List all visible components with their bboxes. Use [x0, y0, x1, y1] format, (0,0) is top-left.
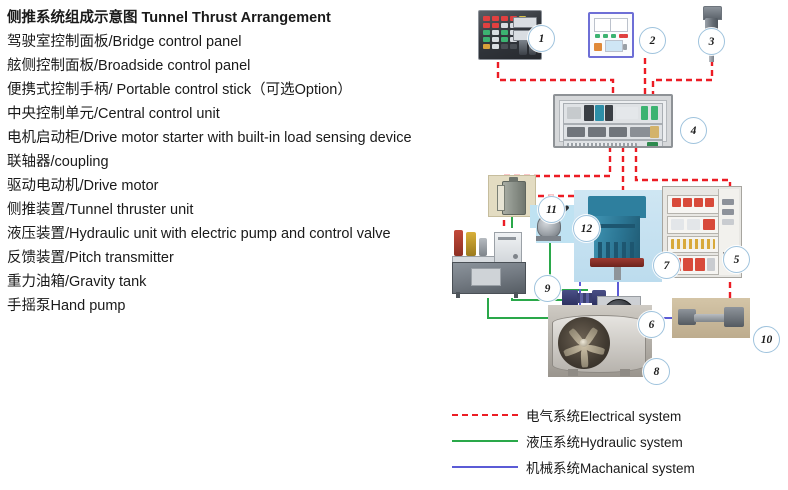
starter-door-device-1 [722, 199, 734, 205]
starter-contactor-4 [705, 198, 714, 207]
system-legend: 电气系统Electrical system 液压系统Hydraulic syst… [452, 402, 782, 480]
callout-9: 9 [534, 275, 561, 302]
system-diagram: 1 2 3 [440, 0, 788, 400]
parts-list: 侧推系统组成示意图 Tunnel Thrust Arrangement 驾驶室控… [7, 6, 457, 318]
legend-swatch-hydraulic [452, 440, 518, 442]
ccu-relay-2 [588, 127, 606, 137]
ccu-shelf-bottom [563, 140, 663, 148]
central-control-unit[interactable] [553, 94, 673, 148]
part-item-2: 舷侧控制面板/Broadside control panel [7, 54, 457, 78]
hydraulic-leg-right [514, 292, 518, 298]
ccu-module-6 [641, 106, 648, 120]
pitch-transmitter[interactable] [672, 298, 750, 338]
callout-3: 3 [698, 28, 725, 55]
hydraulic-control-box [494, 232, 522, 264]
ccu-module-7 [651, 106, 658, 120]
starter-relay-2 [687, 219, 700, 230]
ccu-relay-3 [609, 127, 627, 137]
hydraulic-unit[interactable] [448, 228, 536, 298]
callout-8: 8 [643, 358, 670, 385]
motor-terminal-box [588, 196, 646, 218]
hydraulic-box-label [498, 237, 516, 240]
starter-breaker-3 [695, 258, 705, 271]
callout-12: 12 [573, 215, 600, 242]
gravity-tank[interactable] [488, 175, 536, 217]
part-item-5: 电机启动柜/Drive motor starter with built-in … [7, 126, 457, 150]
ccu-interior [559, 100, 667, 142]
part-item-9: 液压装置/Hydraulic unit with electric pump a… [7, 222, 457, 246]
starter-contactor-2 [683, 198, 692, 207]
starter-relay-3 [703, 219, 715, 230]
part-item-6: 联轴器/coupling [7, 150, 457, 174]
ccu-shelf-top [563, 103, 663, 124]
part-item-1: 驾驶室控制面板/Bridge control panel [7, 30, 457, 54]
ccu-terminal-block [647, 142, 658, 148]
hydraulic-filter-red [454, 230, 463, 256]
part-item-8: 侧推装置/Tunnel thruster unit [7, 198, 457, 222]
broadside-control-panel[interactable] [588, 12, 634, 58]
legend-row-electrical: 电气系统Electrical system [452, 402, 782, 428]
ccu-shelf-middle [563, 124, 663, 140]
broadside-led-5 [623, 34, 628, 38]
starter-relay-1 [671, 219, 684, 230]
starter-breaker-2 [683, 258, 693, 271]
ccu-transformer [650, 126, 659, 138]
hydraulic-reservoir [452, 262, 526, 294]
callout-5: 5 [723, 246, 750, 273]
part-item-7: 驱动电动机/Drive motor [7, 174, 457, 198]
starter-rail-1 [667, 195, 719, 214]
legend-swatch-mechanical [452, 466, 518, 468]
part-item-3: 便携式控制手柄/ Portable control stick（可选Option… [7, 78, 457, 102]
hydraulic-filter-yellow [466, 232, 476, 256]
broadside-display-bottom [605, 40, 623, 52]
starter-door-device-2 [722, 209, 734, 215]
callout-6: 6 [638, 311, 665, 338]
broadside-led-2 [603, 34, 608, 38]
part-item-4: 中央控制单元/Central control unit [7, 102, 457, 126]
callout-7: 7 [653, 252, 680, 279]
motor-flange [590, 258, 644, 267]
broadside-knob[interactable] [623, 44, 627, 50]
hydraulic-box-knob[interactable] [513, 254, 518, 259]
motor-shaft [614, 267, 621, 280]
starter-breaker-4 [707, 258, 715, 271]
pitch-transmitter-sensor [724, 307, 744, 327]
legend-label-hydraulic: 液压系统Hydraulic system [526, 431, 683, 451]
thruster-foot-right [620, 369, 630, 376]
legend-swatch-electrical [452, 414, 518, 416]
ccu-module-4 [605, 105, 613, 121]
starter-contactor-3 [694, 198, 703, 207]
starter-rail-2 [667, 216, 719, 234]
gravity-tank-cap [509, 177, 518, 182]
callout-10: 10 [753, 326, 780, 353]
starter-fuse-strip [671, 239, 715, 249]
gravity-tank-sight-glass [497, 185, 505, 211]
hydraulic-leg-left [456, 292, 460, 298]
broadside-led-3 [611, 34, 616, 38]
callout-1: 1 [528, 25, 555, 52]
bridge-panel-lever-left[interactable] [519, 40, 527, 55]
shaft-flange-left [562, 290, 578, 306]
shaft-bellows [577, 293, 593, 303]
tunnel-thruster-unit[interactable] [548, 305, 652, 377]
callout-11: 11 [538, 196, 565, 223]
broadside-display-right [610, 18, 628, 32]
ccu-module-5 [616, 107, 638, 119]
hand-pump-base [535, 236, 561, 241]
starter-door-device-3 [722, 219, 734, 225]
page-title: 侧推系统组成示意图 Tunnel Thrust Arrangement [7, 6, 457, 30]
part-item-10: 反馈装置/Pitch transmitter [7, 246, 457, 270]
broadside-led-1 [595, 34, 600, 38]
ccu-module-3 [595, 105, 604, 121]
callout-2: 2 [639, 27, 666, 54]
thruster-bore [558, 317, 610, 369]
ccu-module-2 [584, 105, 594, 121]
wire-stick-to-ccu [653, 60, 712, 96]
ccu-terminal-strip [567, 143, 637, 148]
broadside-button-alarm[interactable] [594, 43, 602, 51]
hydraulic-nameplate [471, 268, 501, 286]
ccu-module-1 [567, 107, 581, 119]
ccu-relay-1 [567, 127, 585, 137]
part-item-12: 手摇泵Hand pump [7, 294, 457, 318]
hydraulic-pump [479, 238, 487, 256]
gravity-tank-body [502, 181, 526, 215]
legend-row-mechanical: 机械系统Machanical system [452, 454, 782, 480]
starter-contactor-1 [672, 198, 681, 207]
legend-label-electrical: 电气系统Electrical system [526, 405, 681, 425]
thruster-foot-left [568, 369, 578, 376]
starter-rail-3 [667, 236, 719, 253]
part-item-11: 重力油箱/Gravity tank [7, 270, 457, 294]
callout-4: 4 [680, 117, 707, 144]
wire-bridge-to-ccu [498, 62, 613, 96]
legend-row-hydraulic: 液压系统Hydraulic system [452, 428, 782, 454]
legend-label-mechanical: 机械系统Machanical system [526, 457, 695, 477]
motor-fin-1 [599, 224, 635, 228]
